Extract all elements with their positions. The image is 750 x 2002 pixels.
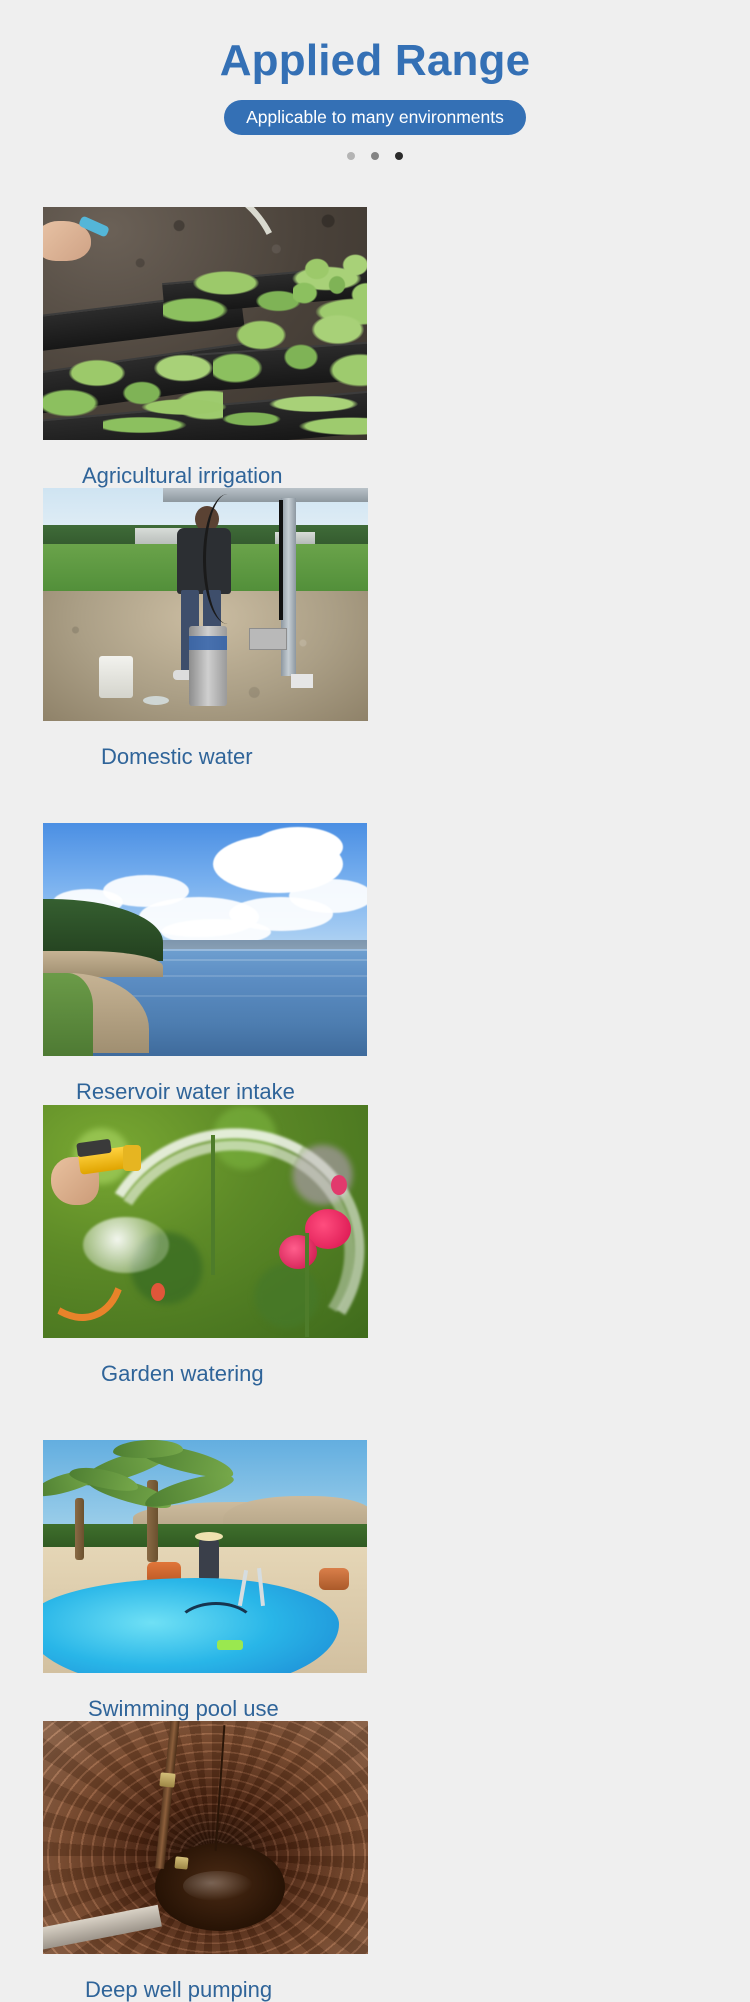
pipe-clamp <box>174 1856 188 1869</box>
carousel-dots[interactable] <box>0 152 750 160</box>
pump-cable <box>203 494 252 624</box>
gallery-item-deep-well-pumping[interactable]: Deep well pumping <box>43 1721 368 2002</box>
carousel-dot-3[interactable] <box>395 152 403 160</box>
bank-grass <box>43 973 93 1056</box>
water-highlight <box>183 1871 253 1901</box>
carousel-dot-2[interactable] <box>371 152 379 160</box>
gallery-item-label: Agricultural irrigation <box>43 440 367 488</box>
plant-stem <box>211 1135 215 1275</box>
gallery-item-garden-watering[interactable]: Garden watering <box>43 1105 368 1386</box>
photo-swimming-pool-use <box>43 1440 367 1673</box>
spray-nozzle-tip <box>123 1145 141 1171</box>
page-header: Applied Range Applicable to many environ… <box>0 0 750 160</box>
controller-box <box>249 628 287 650</box>
pipe-clamp <box>159 1772 175 1787</box>
gallery-item-label: Reservoir water intake <box>43 1056 367 1104</box>
rose-flower <box>279 1235 317 1269</box>
pump-cable <box>279 500 283 620</box>
pool-cleaner-head <box>217 1640 243 1650</box>
gallery-item-label: Deep well pumping <box>43 1954 368 2002</box>
application-gallery: Agricultural irrigation <box>43 207 707 2002</box>
subtitle-badge: Applicable to many environments <box>224 100 526 135</box>
row-spacer <box>43 769 707 823</box>
gallery-item-swimming-pool-use[interactable]: Swimming pool use <box>43 1440 367 1721</box>
palm-trunk <box>75 1498 84 1560</box>
gallery-item-agricultural-irrigation[interactable]: Agricultural irrigation <box>43 207 367 488</box>
mount-beam <box>163 488 368 502</box>
gallery-item-reservoir-water-intake[interactable]: Reservoir water intake <box>43 823 367 1104</box>
well-casing-band <box>189 636 227 650</box>
subtitle-container: Applicable to many environments <box>0 100 750 135</box>
gallery-item-label: Swimming pool use <box>43 1673 367 1721</box>
person <box>199 1538 219 1582</box>
photo-reservoir-water-intake <box>43 823 367 1056</box>
page-title: Applied Range <box>0 38 750 84</box>
rose-bud <box>331 1175 347 1195</box>
photo-deep-well-pumping <box>43 1721 368 1954</box>
photo-garden-watering <box>43 1105 368 1338</box>
applied-range-page: Applied Range Applicable to many environ… <box>0 0 750 1159</box>
rose-bud <box>151 1283 165 1301</box>
carousel-dot-1[interactable] <box>347 152 355 160</box>
gallery-item-label: Garden watering <box>43 1338 368 1386</box>
terracotta-planter <box>319 1568 349 1590</box>
pool-cleaner-hose <box>175 1602 257 1654</box>
seedling-foliage <box>103 383 367 440</box>
controller-box <box>291 674 313 688</box>
water-jug <box>99 656 133 698</box>
seedling-foliage <box>293 237 367 317</box>
gallery-item-domestic-water[interactable]: Domestic water <box>43 488 368 769</box>
plant-stem <box>305 1233 309 1337</box>
photo-domestic-water <box>43 488 368 721</box>
row-spacer <box>43 1386 707 1440</box>
photo-agricultural-irrigation <box>43 207 367 440</box>
sun-hat <box>195 1532 223 1541</box>
gallery-item-label: Domestic water <box>43 721 368 769</box>
